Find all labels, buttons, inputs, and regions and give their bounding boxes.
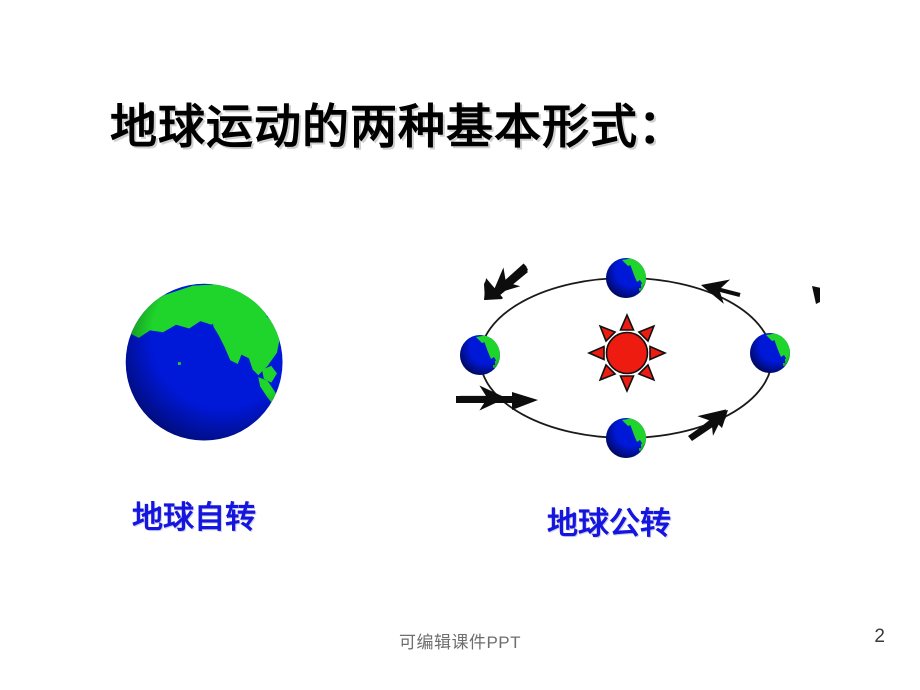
page-title: 地球运动的两种基本形式： — [110, 88, 686, 157]
revolution-figure — [440, 240, 820, 470]
earth-globe-large-icon — [122, 280, 290, 448]
rotation-caption: 地球自转 — [132, 492, 256, 537]
rotation-figure — [118, 276, 298, 456]
revolution-caption: 地球公转 — [547, 498, 671, 543]
orbit-arrow-top-right — [705, 286, 740, 295]
orbit-arrow-bottom-right — [690, 412, 723, 438]
footer-text: 可编辑课件PPT — [0, 628, 920, 653]
presentation-slide: 地球运动的两种基本形式： — [0, 0, 920, 690]
orbit-arrow-top-left — [495, 265, 525, 292]
page-number: 2 — [874, 626, 885, 648]
